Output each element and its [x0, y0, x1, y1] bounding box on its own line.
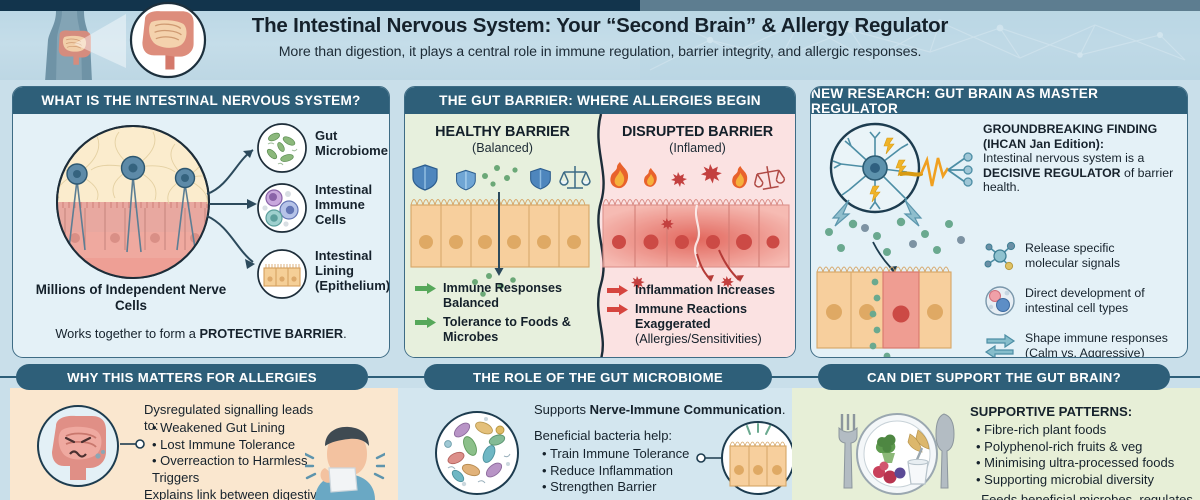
connector-line-left [120, 434, 146, 454]
disrupted-bullets: Inflammation Increases Immune Reactions … [607, 283, 791, 351]
panel-3-list: Release specificmolecular signals Direct… [983, 240, 1188, 358]
panel-3-body: GROUNDBREAKING FINDING (IHCAN Jan Editio… [811, 114, 1187, 357]
panel-1-footer-bold: PROTECTIVE BARRIER [199, 326, 343, 341]
disrupted-subheading: (Inflamed) [600, 141, 795, 155]
healthy-bullet-0: Immune Responses Balanced [415, 281, 591, 311]
disrupted-epithelium-illustration [601, 192, 791, 292]
fork-icon [839, 414, 857, 488]
flame-icon [732, 166, 747, 188]
panel-3-finding: GROUNDBREAKING FINDING (IHCAN Jan Editio… [983, 122, 1183, 195]
immune-cells-circle-icon [256, 182, 308, 234]
disrupted-heading: DISRUPTED BARRIER [600, 124, 795, 140]
red-arrow-icon [607, 285, 629, 296]
shield-icon [413, 165, 437, 190]
panel-3-item-2-label: Shape immune responses(Calm vs. Aggressi… [1025, 331, 1168, 358]
panel-3-item-0: Release specificmolecular signals [983, 240, 1188, 272]
bottom-3-bullet-2: Minimising ultra-processed foods [976, 455, 1200, 472]
shield-icon [531, 168, 551, 188]
disrupted-bullet-0-text: Inflammation Increases [635, 283, 775, 298]
panel-1-footer: Works together to form a PROTECTIVE BARR… [13, 326, 389, 341]
panel-1-body: Gut Microbiome Intestinal Immune Cells [13, 114, 389, 357]
healthy-heading-block: HEALTHY BARRIER (Balanced) [405, 124, 600, 155]
finding-body-1: Intestinal nervous system is a [983, 151, 1144, 165]
bottom-1-bullet-2: Overreaction to Harmless Triggers [152, 453, 330, 486]
molecule-signal-icon [983, 240, 1017, 272]
page-title: The Intestinal Nervous System: Your “Sec… [215, 13, 985, 39]
bottom-2-lead-bold: Nerve-Immune Communication [590, 402, 782, 417]
angry-intestine-icon [36, 404, 120, 488]
green-arrow-icon [415, 317, 437, 328]
healthy-bullets: Immune Responses Balanced Tolerance to F… [415, 281, 591, 349]
healthy-heading: HEALTHY BARRIER [405, 124, 600, 140]
panel-1-footer-suffix: . [343, 326, 347, 341]
tab-connector-1 [368, 376, 428, 378]
panel-why-matters: Dysregulated signalling leads to: Weaken… [10, 388, 404, 500]
panel-what-is-ins: WHAT IS THE INTESTINAL NERVOUS SYSTEM? [12, 86, 390, 358]
header-text-block: The Intestinal Nervous System: Your “Sec… [215, 13, 985, 62]
finding-head-line2: (IHCAN Jan Edition): [983, 137, 1104, 151]
disrupted-heading-block: DISRUPTED BARRIER (Inflamed) [600, 124, 795, 155]
pathogen-icon [671, 172, 687, 187]
bottom-3-head: SUPPORTIVE PATTERNS: [970, 404, 1200, 419]
inflammation-icons-row [605, 160, 791, 192]
panel-3-item-2: Shape immune responses(Calm vs. Aggressi… [983, 330, 1188, 358]
bottom-3-bullet-0: Fibre-rich plant foods [976, 422, 1200, 439]
healthy-subheading: (Balanced) [405, 141, 600, 155]
two-way-arrow-icon [983, 330, 1017, 358]
epithelium-signal-illustration [815, 214, 987, 358]
panel-2-title: THE GUT BARRIER: WHERE ALLERGIES BEGIN [405, 87, 795, 114]
human-body-intestine-illustration [0, 0, 230, 80]
pathogen-icon [701, 164, 722, 184]
connector-line-right [696, 448, 722, 468]
bottom-3-bullet-1: Polyphenol-rich fruits & veg [976, 439, 1200, 456]
flame-icon [610, 162, 628, 188]
disrupted-bullet-1: Immune Reactions Exaggerated (Allergies/… [607, 302, 791, 347]
disrupted-bullet-1-text: Immune Reactions Exaggerated [635, 302, 747, 331]
bottom-2-lead-suffix: . [782, 402, 786, 417]
knife-icon [936, 414, 954, 488]
bottom-3-bullets: Fibre-rich plant foods Polyphenol-rich f… [976, 422, 1200, 488]
bottom-1-bullets: Weakened Gut Lining Lost Immune Toleranc… [152, 420, 330, 486]
healthy-plate-icon [832, 404, 962, 500]
page-subtitle: More than digestion, it plays a central … [215, 42, 985, 62]
finding-bold: DECISIVE REGULATOR [983, 166, 1121, 180]
healthy-epithelium-illustration [409, 192, 591, 278]
finding-head-line1: GROUNDBREAKING FINDING [983, 122, 1157, 136]
tab-connector-2 [768, 376, 822, 378]
disrupted-bullet-1-sub: (Allergies/Sensitivities) [635, 332, 791, 347]
balance-scale-icon [560, 166, 590, 188]
tab-diet[interactable]: CAN DIET SUPPORT THE GUT BRAIN? [818, 364, 1170, 390]
disrupted-bullet-0: Inflammation Increases [607, 283, 791, 298]
bottom-3-cut-text: Feeds beneficial microbes, regulates [942, 492, 1200, 500]
bottom-1-bullet-0: Weakened Gut Lining [152, 420, 330, 437]
panel-3-item-0-label: Release specificmolecular signals [1025, 241, 1120, 270]
panel-3-item-1: Direct development ofintestinal cell typ… [983, 285, 1188, 317]
bottom-2-lead: Supports Nerve-Immune Communication. [534, 402, 794, 418]
panel-3-title: NEW RESEARCH: GUT BRAIN AS MASTER REGULA… [811, 87, 1187, 114]
tab-microbiome[interactable]: THE ROLE OF THE GUT MICROBIOME [424, 364, 772, 390]
panel-1-item-0-label: Gut Microbiome [315, 128, 388, 158]
balance-scale-tipped-icon [752, 164, 785, 191]
tab-connector-right [1168, 376, 1200, 378]
epithelium-circle-icon [256, 248, 308, 300]
panel-1-item-2-label: Intestinal Lining (Epithelium) [315, 248, 390, 293]
panel-1-footer-prefix: Works together to form a [55, 326, 199, 341]
bottom-1-bullet-1: Lost Immune Tolerance [152, 437, 330, 454]
panel-1-main-caption: Millions of Independent Nerve Cells [21, 282, 241, 314]
panel-gut-barrier: THE GUT BARRIER: WHERE ALLERGIES BEGIN H… [404, 86, 796, 358]
panel-microbiome: Supports Nerve-Immune Communication. Ben… [398, 388, 798, 500]
tab-why-matters[interactable]: WHY THIS MATTERS FOR ALLERGIES [16, 364, 368, 390]
shield-icon [457, 170, 476, 190]
panel-1-title: WHAT IS THE INTESTINAL NERVOUS SYSTEM? [13, 87, 389, 114]
green-arrow-icon [415, 283, 437, 294]
panel-2-body: HEALTHY BARRIER (Balanced) [405, 114, 795, 357]
molecule-dots [482, 165, 518, 187]
panel-new-research: NEW RESEARCH: GUT BRAIN AS MASTER REGULA… [810, 86, 1188, 358]
cell-types-icon [983, 285, 1017, 317]
bacteria-circle-icon [256, 122, 308, 174]
microbiome-circle-icon [434, 410, 520, 496]
flame-icon [644, 168, 657, 187]
header-banner: The Intestinal Nervous System: Your “Sec… [0, 0, 1200, 80]
bottom-2-lead-prefix: Supports [534, 402, 590, 417]
healthy-bullet-1: Tolerance to Foods & Microbes [415, 315, 591, 345]
bottom-3-bullet-3: Supporting microbial diversity [976, 472, 1200, 489]
person-sneezing-icon [305, 424, 385, 500]
panel-diet: SUPPORTIVE PATTERNS: Fibre-rich plant fo… [792, 388, 1200, 500]
healthy-bullet-1-text: Tolerance to Foods & Microbes [443, 315, 591, 345]
healthy-bullet-0-text: Immune Responses Balanced [443, 281, 591, 311]
panel-3-item-1-label: Direct development ofintestinal cell typ… [1025, 286, 1145, 315]
red-arrow-icon [607, 304, 629, 315]
panel-1-item-1-label: Intestinal Immune Cells [315, 182, 372, 227]
infographic-page: The Intestinal Nervous System: Your “Sec… [0, 0, 1200, 500]
shield-icons-row [411, 162, 597, 192]
epithelium-signal-icon [720, 420, 796, 496]
